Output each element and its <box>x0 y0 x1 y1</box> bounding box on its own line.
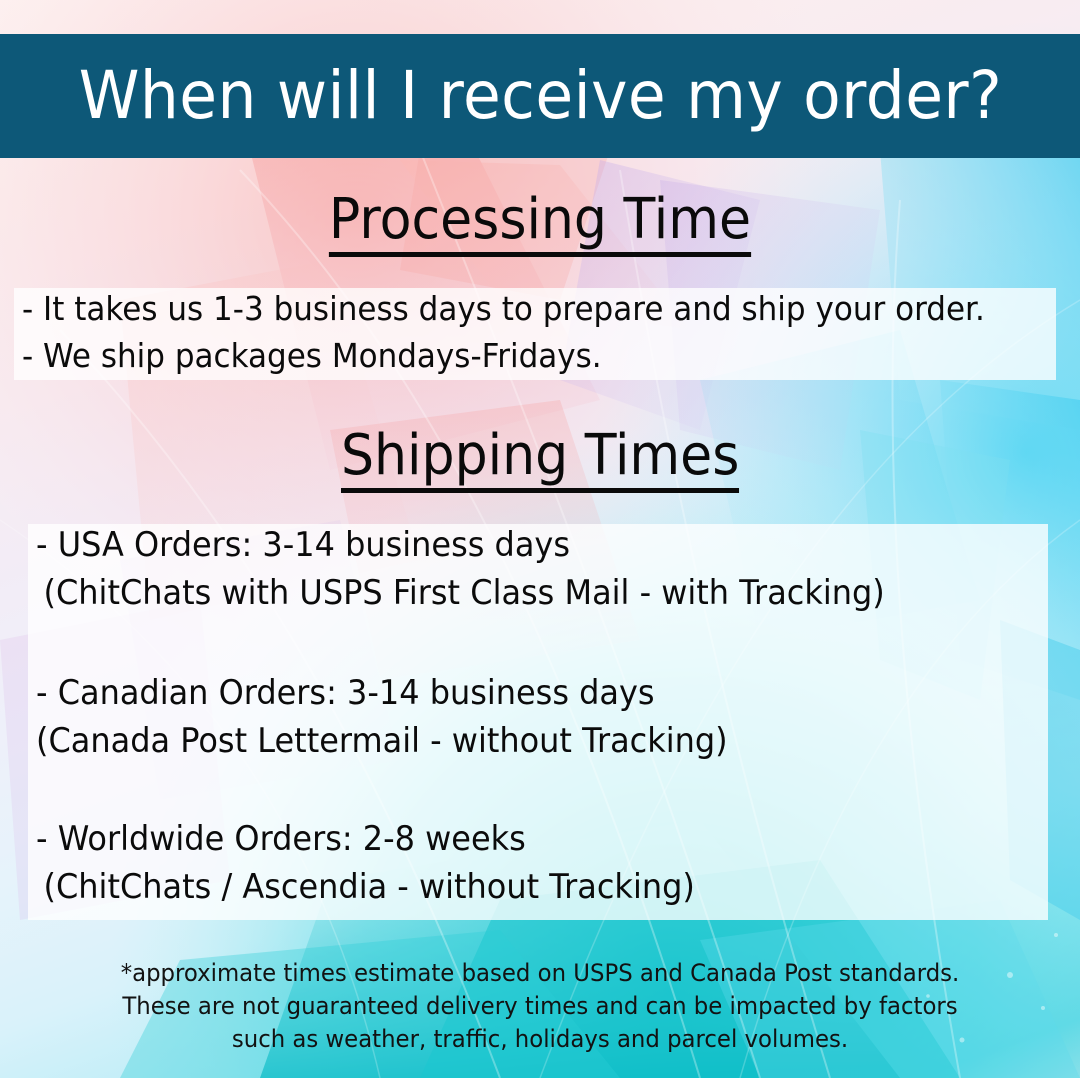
processing-line-1: - It takes us 1-3 business days to prepa… <box>22 292 985 325</box>
shipping-canada-title: - Canadian Orders: 3-14 business days <box>36 676 728 710</box>
shipping-times-heading: Shipping Times <box>0 428 1080 493</box>
header-banner: When will I receive my order? <box>0 34 1080 158</box>
shipping-canada-detail: (Canada Post Lettermail - without Tracki… <box>36 724 728 758</box>
shipping-usa-detail: (ChitChats with USPS First Class Mail - … <box>36 576 885 610</box>
shipping-usa-title: - USA Orders: 3-14 business days <box>36 528 885 562</box>
footnote-disclaimer: *approximate times estimate based on USP… <box>0 957 1080 1056</box>
shipping-block-worldwide: - Worldwide Orders: 2-8 weeks (ChitChats… <box>36 822 737 918</box>
processing-line-2: - We ship packages Mondays-Fridays. <box>22 339 985 372</box>
footnote-line-3: such as weather, traffic, holidays and p… <box>27 1023 1053 1056</box>
shipping-worldwide-title: - Worldwide Orders: 2-8 weeks <box>36 822 695 856</box>
processing-time-lines: - It takes us 1-3 business days to prepa… <box>22 292 1046 386</box>
shipping-times-heading-label: Shipping Times <box>341 428 739 493</box>
page-title: When will I receive my order? <box>78 63 1001 129</box>
footnote-line-1: *approximate times estimate based on USP… <box>27 957 1053 990</box>
shipping-info-poster: When will I receive my order? Processing… <box>0 0 1080 1078</box>
processing-time-heading-label: Processing Time <box>329 192 751 257</box>
shipping-block-canada: - Canadian Orders: 3-14 business days (C… <box>36 676 772 772</box>
footnote-line-2: These are not guaranteed delivery times … <box>27 990 1053 1023</box>
processing-time-heading: Processing Time <box>0 192 1080 257</box>
shipping-worldwide-detail: (ChitChats / Ascendia - without Tracking… <box>36 870 695 904</box>
shipping-block-usa: - USA Orders: 3-14 business days (ChitCh… <box>36 528 939 624</box>
